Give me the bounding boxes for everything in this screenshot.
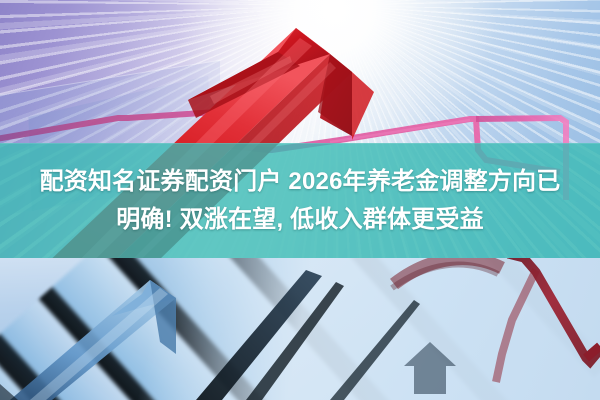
bottom-diagonal-field bbox=[0, 258, 600, 400]
headline-text: 配资知名证券配资门户 2026年养老金调整方向已 明确! 双涨在望, 低收入群体… bbox=[0, 143, 600, 258]
headline-line-2: 明确! 双涨在望, 低收入群体更受益 bbox=[116, 203, 484, 237]
headline-line-1: 配资知名证券配资门户 2026年养老金调整方向已 bbox=[40, 165, 561, 199]
thumbnail-image: 配资知名证券配资门户 2026年养老金调整方向已 明确! 双涨在望, 低收入群体… bbox=[0, 0, 600, 400]
bottom-vector-overlay bbox=[0, 258, 600, 400]
